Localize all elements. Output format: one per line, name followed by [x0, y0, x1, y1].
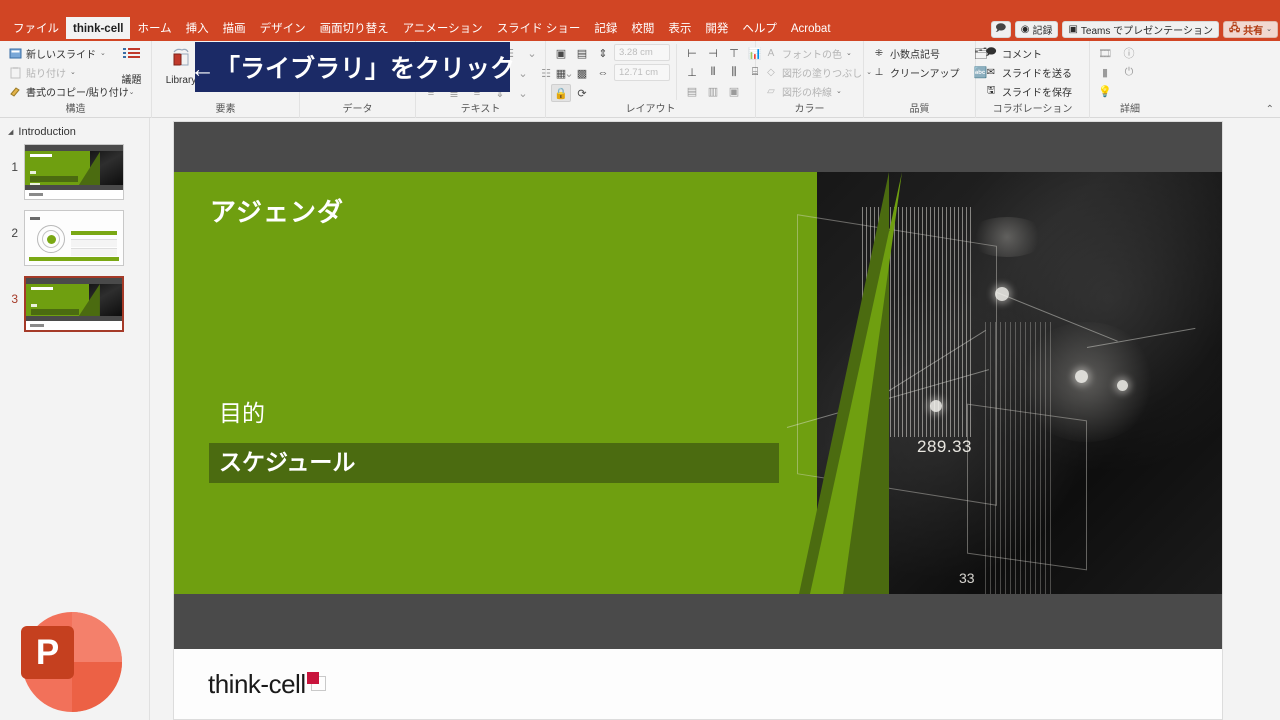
columns-icon[interactable]: ▥ [703, 82, 723, 100]
thumb-title-bar [30, 154, 52, 157]
powerpoint-window: ファイル think-cell ホーム 挿入 描画 デザイン 画面切り替え アニ… [0, 0, 1280, 720]
section-label: Introduction [18, 126, 75, 138]
shape-fill-label: 図形の塗りつぶし [782, 65, 862, 80]
device-icon[interactable]: ▮ [1095, 63, 1115, 81]
agenda-list: 目的 スケジュール [209, 394, 779, 483]
tab-think-cell[interactable]: think-cell [66, 17, 130, 41]
shape-width-value: 12.71 cm [619, 67, 658, 78]
comment-icon[interactable]: 🗩 [991, 21, 1011, 38]
comment-icon: 🗩 [984, 46, 998, 60]
chevron-down-icon[interactable]: ⌄ [513, 64, 533, 82]
tab-review[interactable]: 校閲 [624, 20, 661, 39]
slide-band-top [174, 122, 1222, 172]
shape-width-input[interactable]: 12.71 cm [614, 64, 670, 81]
collapse-triangle-icon: ◢ [8, 128, 13, 136]
slide-band-bottom [174, 594, 1222, 649]
paste-button[interactable]: 貼り付け ⌄ [5, 63, 113, 81]
annotation-banner: ←「ライブラリ」をクリック [195, 42, 510, 92]
current-slide[interactable]: 289.33 33 アジェンダ 目的 スケジュール think-cell [174, 122, 1222, 719]
video-icon[interactable]: 🎞 [1095, 44, 1115, 62]
section-header[interactable]: ◢ Introduction [0, 126, 149, 144]
slide-thumbnail-2[interactable] [24, 210, 124, 266]
thumb-footer [25, 190, 123, 199]
think-cell-mark-icon [307, 672, 326, 691]
paste-label: 貼り付け [26, 65, 66, 80]
slide-editing-stage: 289.33 33 アジェンダ 目的 スケジュール think-cell [150, 118, 1280, 720]
thumbnail-row-1[interactable]: 1 [0, 144, 149, 210]
chevron-down-icon: ⌄ [70, 68, 76, 76]
shape-height-value: 3.28 cm [619, 47, 653, 58]
save-slide-icon: 🖫 [984, 84, 998, 98]
powerpoint-app-badge: P [22, 612, 122, 712]
ribbon-group-color: A フォントの色 ⌄ ◇ 図形の塗りつぶし ⌄ ▱ 図形の枠線 ⌄ [756, 41, 864, 118]
thumbnail-row-3[interactable]: 3 [0, 276, 149, 342]
rotate-shape-icon[interactable]: ⟳ [572, 84, 592, 102]
tab-design[interactable]: デザイン [253, 20, 313, 39]
photo-data-point [995, 287, 1009, 301]
collapse-ribbon-button[interactable]: ⌃ [1266, 104, 1274, 115]
slide-number: 1 [6, 144, 18, 174]
group-label-elements: 要素 [157, 104, 294, 118]
group-label-text: テキスト [421, 104, 540, 118]
chevron-down-icon: ⌄ [1266, 25, 1272, 33]
chevron-down-icon: ⌄ [129, 88, 135, 96]
present-in-teams-button[interactable]: ▣ Teams でプレゼンテーション [1062, 21, 1219, 38]
thumbnail-row-2[interactable]: 2 [0, 210, 149, 276]
power-icon[interactable]: ⏻ [1119, 63, 1139, 81]
photo-chart-frame [967, 404, 1087, 571]
teams-icon: ▣ [1068, 24, 1077, 35]
thumb-text-line [31, 304, 37, 307]
powerpoint-icon: P [21, 626, 74, 679]
group-label-details: 詳細 [1095, 104, 1165, 118]
slide-thumbnail-3[interactable] [24, 276, 124, 332]
ribbon-group-structure: 新しいスライド ⌄ 貼り付け ⌄ 書式のコピー/貼り [0, 41, 152, 118]
group-label-collaboration: コラボレーション [981, 104, 1084, 118]
tab-view[interactable]: 表示 [661, 20, 698, 39]
group-label-color: カラー [761, 104, 858, 118]
new-slide-button[interactable]: 新しいスライド ⌄ [5, 44, 113, 62]
send-slide-icon: ✉ [984, 65, 998, 79]
tab-animations[interactable]: アニメーション [396, 20, 490, 39]
thumb-footer [26, 321, 122, 330]
group-label-layout: レイアウト [551, 104, 750, 118]
thumb-title-bar [31, 287, 53, 290]
group-shapes-icon[interactable]: ▣ [551, 44, 571, 62]
format-painter-icon [8, 84, 22, 98]
comment-label: コメント [1002, 46, 1042, 61]
thumb-table-header [71, 231, 117, 235]
tab-transitions[interactable]: 画面切り替え [313, 20, 396, 39]
tab-draw[interactable]: 描画 [216, 20, 253, 39]
slide-number: 2 [6, 210, 18, 240]
format-painter-label: 書式のコピー/貼り付け [26, 84, 129, 99]
group-label-data: データ [305, 104, 410, 118]
align-shape-left-icon[interactable]: ⊢ [682, 44, 702, 62]
thumb-text-line [30, 171, 36, 174]
ungroup-shapes-icon[interactable]: ▤ [572, 44, 592, 62]
title-bar [0, 0, 1280, 17]
align-shape-bottom-icon[interactable]: ⊥ [682, 63, 702, 81]
slide-footer: think-cell [174, 649, 1222, 719]
ribbon-tab-bar: ファイル think-cell ホーム 挿入 描画 デザイン 画面切り替え アニ… [0, 17, 1280, 41]
logo-text: think-cell [208, 671, 306, 697]
agenda-icon [122, 46, 142, 69]
title-bar-actions: 🗩 ◉ 記録 ▣ Teams でプレゼンテーション 🖧 共有 ⌄ [991, 17, 1278, 41]
chevron-down-icon: ⌄ [846, 49, 852, 57]
width-icon[interactable]: ⇔ [593, 64, 613, 82]
agenda-item-schedule[interactable]: スケジュール [209, 443, 779, 483]
chevron-down-icon[interactable]: ⌄ [522, 44, 542, 62]
ribbon-group-quality: ⁜ 小数点記号 ⊥ クリーンアップ 🗂 🔤 品質 [864, 41, 976, 118]
decimal-separator-label: 小数点記号 [890, 46, 940, 61]
format-painter-button[interactable]: 書式のコピー/貼り付け [5, 82, 113, 100]
agenda-item-purpose[interactable]: 目的 [209, 394, 779, 434]
ribbon-group-details: 🎞 ⓘ ▮ ⏻ 💡 詳細 [1090, 41, 1170, 118]
share-icon: 🖧 [1229, 21, 1240, 38]
align-shape-center-icon[interactable]: ⊣ [703, 44, 723, 62]
group-label-quality: 品質 [869, 104, 970, 118]
send-slide-button[interactable]: ✉ スライドを送る [981, 63, 1075, 81]
paste-icon [8, 65, 22, 79]
annotation-text: ←「ライブラリ」をクリック [190, 49, 515, 85]
distribute-h-icon[interactable]: ⫴ [703, 63, 723, 81]
tab-file[interactable]: ファイル [6, 20, 66, 39]
chevron-down-icon[interactable]: ⌄ [513, 84, 533, 102]
font-color-icon: A [764, 46, 778, 60]
tab-insert[interactable]: 挿入 [179, 20, 216, 39]
fit-icon[interactable]: ▣ [724, 82, 744, 100]
thumb-table-row [71, 248, 117, 256]
tab-help[interactable]: ヘルプ [735, 20, 784, 39]
chevron-down-icon: ⌄ [836, 87, 842, 95]
slide-green-panel: 289.33 33 アジェンダ 目的 スケジュール [174, 172, 1222, 594]
agenda-label: 議題 [122, 71, 142, 86]
shape-height-input[interactable]: 3.28 cm [614, 44, 670, 61]
duplicate-shape-icon[interactable]: ▦ [551, 64, 571, 82]
decimal-separator-icon: ⁜ [872, 46, 886, 60]
ribbon-group-collaboration: 🗩 コメント ✉ スライドを送る 🖫 スライドを保存 コラボレーション [976, 41, 1090, 118]
photo-data-point [1075, 370, 1088, 383]
shape-outline-label: 図形の枠線 [782, 84, 832, 99]
shape-fill-button[interactable]: ◇ 図形の塗りつぶし ⌄ [761, 63, 875, 81]
new-slide-label: 新しいスライド [26, 46, 96, 61]
record-icon: ◉ [1021, 24, 1030, 35]
thumb-radar-chart [37, 225, 65, 253]
page-title: アジェンダ [210, 192, 344, 229]
distribute-v-icon[interactable]: ⫼ [724, 63, 744, 81]
shape-outline-button[interactable]: ▱ 図形の枠線 ⌄ [761, 82, 875, 100]
photo-data-point [930, 400, 942, 412]
thumb-highlight [31, 309, 79, 315]
think-cell-logo: think-cell [208, 671, 326, 697]
distribute-icon[interactable]: ▩ [572, 64, 592, 82]
thumb-table-row [71, 239, 117, 247]
thumb-title-bar [30, 217, 40, 220]
tab-home[interactable]: ホーム [130, 20, 178, 39]
tips-icon[interactable]: 💡 [1095, 82, 1115, 100]
thumb-progress-bar [29, 257, 119, 261]
send-slide-label: スライドを送る [1002, 65, 1072, 80]
photo-value-label: 289.33 [917, 437, 972, 457]
record-label: 記録 [1032, 22, 1052, 37]
photo-value-label: 33 [959, 570, 975, 586]
save-slide-button[interactable]: 🖫 スライドを保存 [981, 82, 1075, 100]
table-layout-icon[interactable]: ▤ [682, 82, 702, 100]
thumb-highlight [30, 176, 78, 182]
agenda-button[interactable]: 議題 ⌄ [117, 44, 146, 96]
share-label: 共有 [1243, 22, 1263, 37]
group-label-structure: 構造 [5, 104, 146, 118]
height-icon[interactable]: ⇕ [593, 44, 613, 62]
info-icon[interactable]: ⓘ [1119, 44, 1139, 62]
tab-record[interactable]: 記録 [587, 20, 624, 39]
slide-number: 3 [6, 276, 18, 306]
align-shape-top-icon[interactable]: ⊤ [724, 44, 744, 62]
cleanup-button[interactable]: ⊥ クリーンアップ [869, 63, 963, 81]
tab-acrobat[interactable]: Acrobat [784, 20, 838, 39]
cleanup-icon: ⊥ [872, 65, 886, 79]
share-button[interactable]: 🖧 共有 ⌄ [1223, 21, 1278, 38]
save-slide-label: スライドを保存 [1002, 84, 1072, 99]
shape-fill-icon: ◇ [764, 65, 778, 79]
decimal-separator-button[interactable]: ⁜ 小数点記号 [869, 44, 963, 62]
record-button[interactable]: ◉ 記録 [1015, 21, 1059, 38]
ribbon-group-layout: ▣ ▤ ⇕ 3.28 cm ▦ ▩ ⇔ 12.71 cm [546, 41, 756, 118]
font-color-label: フォントの色 [782, 46, 842, 61]
chevron-down-icon: ⌄ [100, 49, 106, 57]
font-color-button[interactable]: A フォントの色 ⌄ [761, 44, 875, 62]
shape-outline-icon: ▱ [764, 84, 778, 98]
new-slide-icon [8, 46, 22, 60]
lock-icon[interactable]: 🔒 [551, 84, 571, 102]
photo-data-point [1117, 380, 1128, 391]
tab-developer[interactable]: 開発 [698, 20, 735, 39]
tab-slideshow[interactable]: スライド ショー [490, 20, 588, 39]
slide-thumbnail-1[interactable] [24, 144, 124, 200]
comment-button[interactable]: 🗩 コメント [981, 44, 1075, 62]
teams-label: Teams でプレゼンテーション [1081, 22, 1213, 37]
cleanup-label: クリーンアップ [890, 65, 960, 80]
